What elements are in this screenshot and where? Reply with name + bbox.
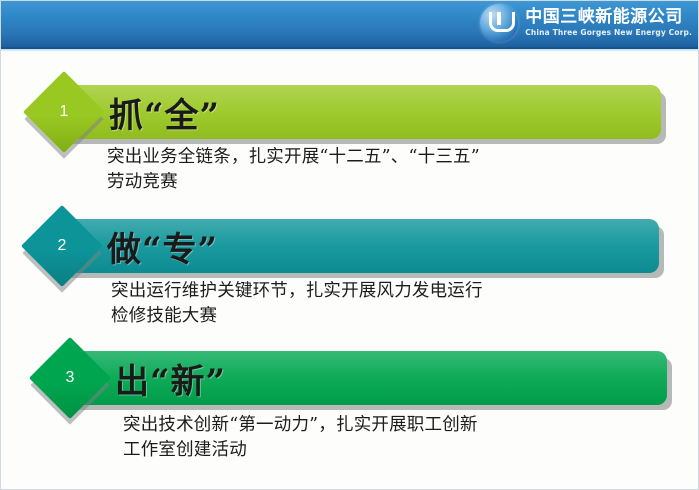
block-1-title: 抓“全” (109, 83, 220, 141)
slide-canvas: 中国三峡新能源公司 China Three Gorges New Energy … (0, 0, 699, 490)
slide-header-bar: 中国三峡新能源公司 China Three Gorges New Energy … (1, 1, 699, 49)
block-2-number-diamond (21, 205, 103, 287)
block-1-number-diamond (23, 71, 105, 153)
company-brand: 中国三峡新能源公司 China Three Gorges New Energy … (480, 4, 692, 42)
content-block-1: 1 抓“全” 突出业务全链条，扎实开展“十二五”、“十三五” 劳动竞赛 (1, 57, 699, 191)
header-underglow (1, 49, 699, 52)
block-3-body-text: 突出技术创新“第一动力”，扎实开展职工创新 工作室创建活动 (123, 413, 683, 463)
three-gorges-circular-logo-icon (480, 4, 518, 42)
company-brand-text: 中国三峡新能源公司 China Three Gorges New Energy … (525, 9, 692, 37)
company-name-cn: 中国三峡新能源公司 (525, 9, 692, 26)
content-block-3: 3 出“新” 突出技术创新“第一动力”，扎实开展职工创新 工作室创建活动 (1, 325, 699, 459)
block-3-title: 出“新” (115, 349, 226, 407)
block-2-title: 做“专” (107, 217, 218, 275)
block-2-body-text: 突出运行维护关键环节，扎实开展风力发电运行 检修技能大赛 (111, 279, 671, 329)
content-block-2: 2 做“专” 突出运行维护关键环节，扎实开展风力发电运行 检修技能大赛 (1, 191, 699, 325)
content-blocks: 1 抓“全” 突出业务全链条，扎实开展“十二五”、“十三五” 劳动竞赛 2 做“… (1, 57, 699, 459)
company-name-en: China Three Gorges New Energy Corp. (525, 29, 692, 37)
block-1-body-text: 突出业务全链条，扎实开展“十二五”、“十三五” 劳动竞赛 (107, 145, 682, 195)
block-3-number-diamond (29, 337, 111, 419)
